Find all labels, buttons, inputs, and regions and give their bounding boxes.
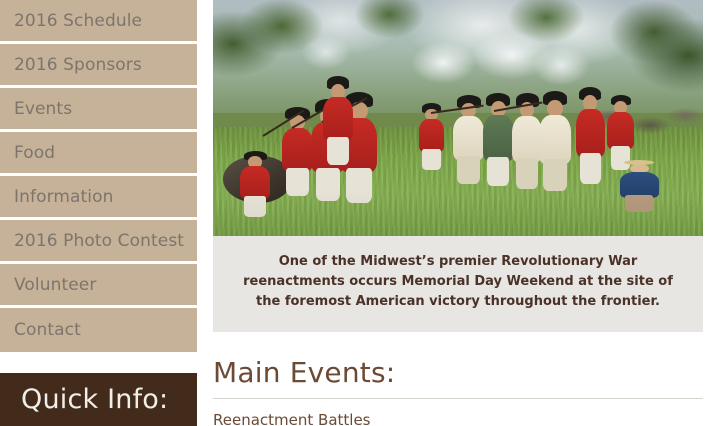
photo-figure-legs — [327, 137, 348, 165]
photo-figure-seated-woman — [620, 156, 659, 213]
sidebar-item-2016-photo-contest[interactable]: 2016 Photo Contest — [0, 220, 197, 264]
photo-figure-colonial-2 — [512, 87, 542, 188]
feature-panel: One of the Midwest’s premier Revolutiona… — [213, 0, 703, 332]
sidebar-item-label: Contact — [14, 320, 81, 340]
sidebar-item-volunteer[interactable]: Volunteer — [0, 264, 197, 308]
sidebar-item-label: 2016 Photo Contest — [14, 231, 184, 251]
photo-figure-legs — [422, 149, 440, 170]
photo-figure-straw-hat — [624, 160, 654, 165]
photo-figure-redcoat-6 — [576, 80, 605, 184]
main-events-divider — [213, 398, 703, 399]
sidebar-item-label: Information — [14, 187, 114, 207]
reenactment-photo — [213, 0, 703, 236]
quick-info-header: Quick Info: — [0, 373, 197, 426]
sidebar-item-2016-sponsors[interactable]: 2016 Sponsors — [0, 44, 197, 88]
photo-figure-coat — [453, 116, 484, 159]
photo-figure-redcoat-4 — [323, 71, 352, 165]
sidebar-item-information[interactable]: Information — [0, 176, 197, 220]
main-events-section: Main Events: Reenactment Battles Colonia… — [213, 358, 703, 426]
photo-figure-legs — [580, 153, 601, 184]
main-events-heading: Main Events: — [213, 358, 703, 389]
sidebar-item-label: Events — [14, 99, 72, 119]
photo-figure-coat — [483, 115, 514, 161]
feature-caption: One of the Midwest’s premier Revolutiona… — [213, 236, 703, 330]
photo-figure-legs — [516, 158, 538, 188]
photo-figure-legs — [316, 168, 341, 201]
photo-figure-legs — [244, 196, 266, 217]
sidebar-item-label: 2016 Sponsors — [14, 55, 142, 75]
page-root: 2016 Schedule 2016 Sponsors Events Food … — [0, 0, 720, 426]
photo-figure-colonial-green — [483, 87, 514, 186]
sidebar-item-label: Volunteer — [14, 275, 96, 295]
photo-figure-legs — [346, 168, 372, 203]
photo-figure-coat — [512, 116, 542, 163]
photo-figure-coat — [323, 97, 352, 140]
photo-figure-skirt — [625, 195, 653, 212]
quick-info-label: Quick Info: — [21, 384, 168, 415]
photo-figure-coat — [607, 112, 633, 149]
sidebar-item-2016-schedule[interactable]: 2016 Schedule — [0, 0, 197, 44]
sidebar-item-contact[interactable]: Contact — [0, 308, 197, 352]
sidebar-item-label: 2016 Schedule — [14, 11, 142, 31]
photo-figure-legs — [286, 168, 309, 196]
photo-figure-kneeling-redcoat — [240, 146, 270, 217]
sidebar-nav: 2016 Schedule 2016 Sponsors Events Food … — [0, 0, 197, 352]
photo-figure-coat — [282, 128, 314, 171]
photo-figure-legs — [487, 157, 510, 187]
photo-figure-legs — [543, 159, 566, 191]
main-events-list-item[interactable]: Reenactment Battles — [213, 408, 703, 426]
main-content: One of the Midwest’s premier Revolutiona… — [213, 0, 703, 426]
photo-figure-colonial-1 — [453, 90, 484, 184]
photo-figure-legs — [457, 156, 480, 184]
photo-figure-coat — [240, 166, 270, 199]
sidebar-item-food[interactable]: Food — [0, 132, 197, 176]
photo-figure-coat — [539, 115, 571, 164]
main-events-list: Reenactment Battles Colonial Encampment … — [213, 408, 703, 426]
photo-figure-coat — [419, 119, 444, 152]
sidebar-item-events[interactable]: Events — [0, 88, 197, 132]
sidebar-item-label: Food — [14, 143, 55, 163]
photo-figure-coat — [576, 109, 605, 157]
photo-figure-coat — [620, 172, 659, 198]
photo-figure-colonial-3 — [539, 85, 571, 191]
